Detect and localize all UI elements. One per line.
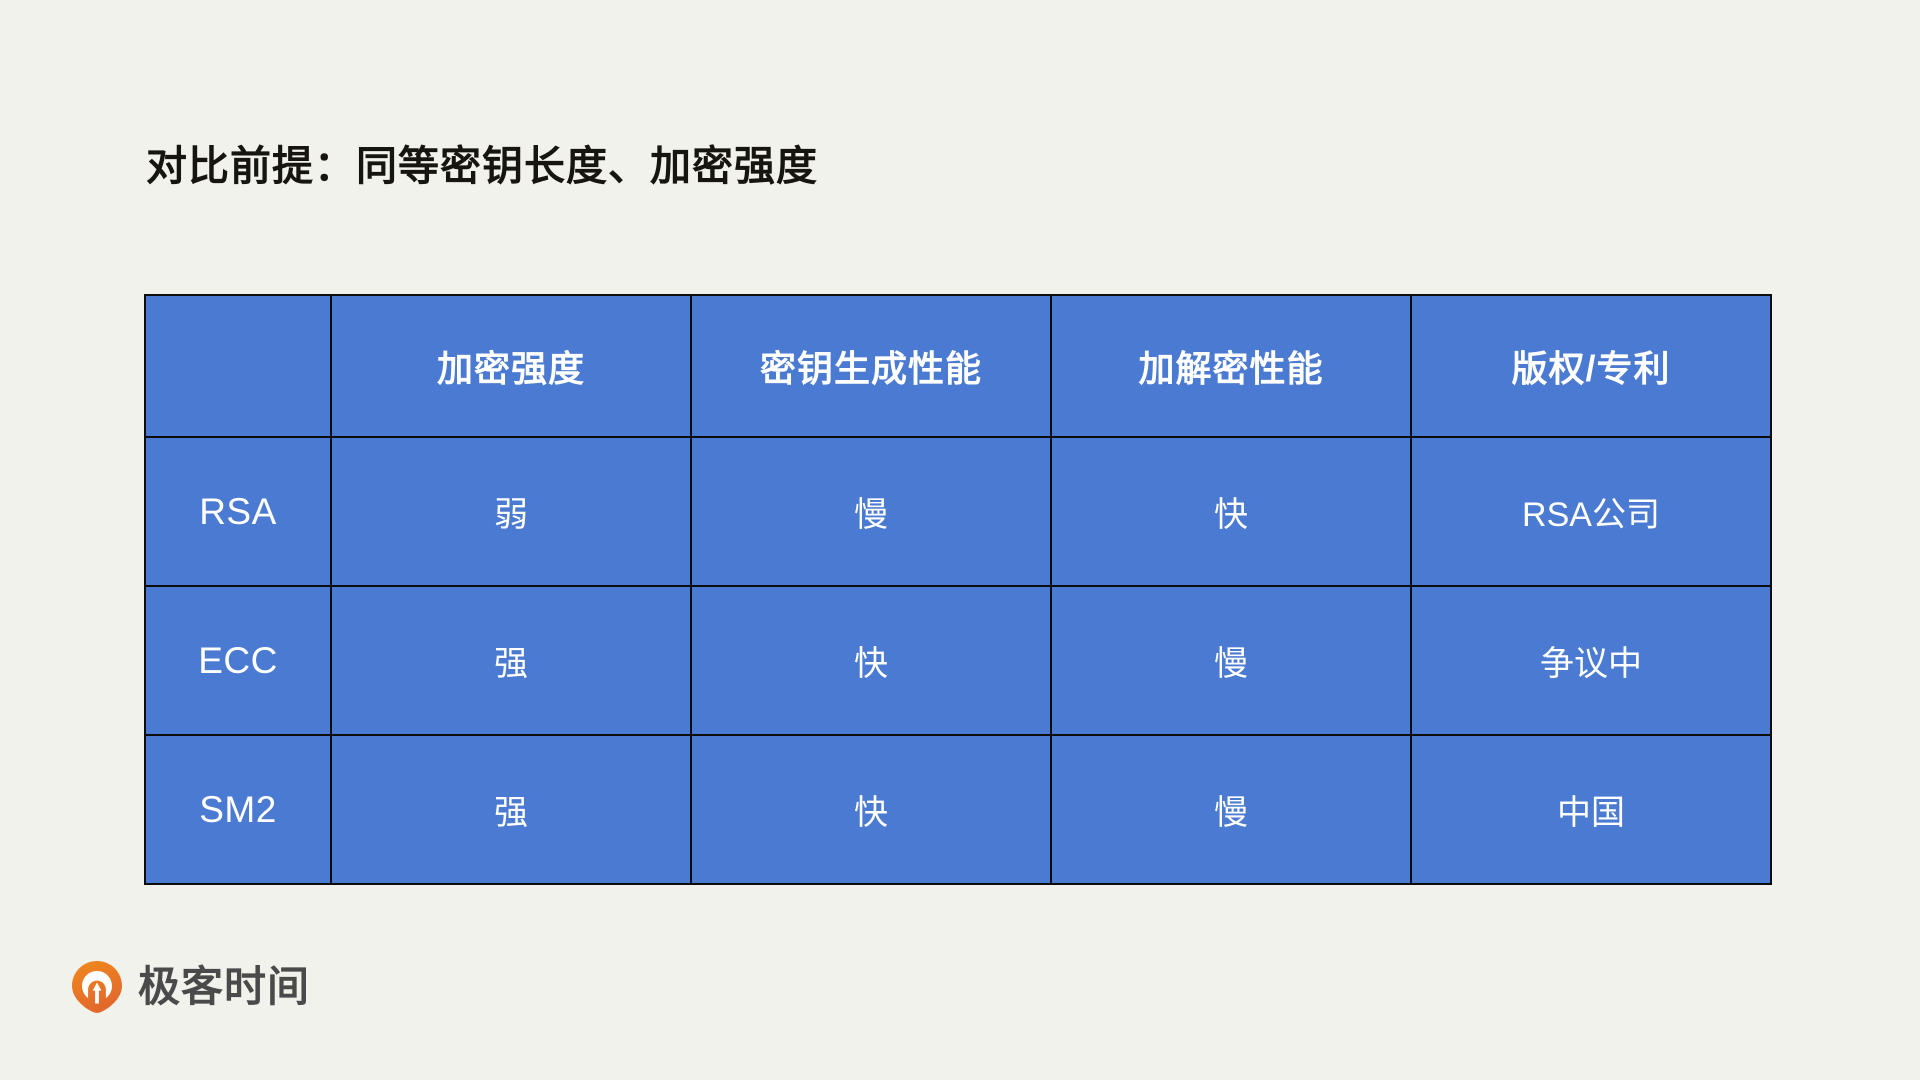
- column-header-encryption-strength: 加密强度: [331, 295, 691, 437]
- table-corner-cell: [145, 295, 331, 437]
- geektime-logo-icon: [70, 960, 124, 1014]
- cell-sm2-key-generation-performance: 快: [691, 735, 1051, 884]
- comparison-table: 加密强度 密钥生成性能 加解密性能 版权/专利 RSA 弱 慢 快 RSA公司 …: [144, 294, 1772, 885]
- column-header-key-generation-performance: 密钥生成性能: [691, 295, 1051, 437]
- brand-logo-text: 极客时间: [138, 966, 310, 1008]
- cell-rsa-encrypt-decrypt-performance: 快: [1051, 437, 1411, 586]
- column-header-copyright-patent: 版权/专利: [1411, 295, 1771, 437]
- cell-rsa-key-generation-performance: 慢: [691, 437, 1051, 586]
- row-label-sm2: SM2: [145, 735, 331, 884]
- table-row: SM2 强 快 慢 中国: [145, 735, 1771, 884]
- cell-ecc-encryption-strength: 强: [331, 586, 691, 735]
- cell-rsa-encryption-strength: 弱: [331, 437, 691, 586]
- row-label-ecc: ECC: [145, 586, 331, 735]
- cell-ecc-encrypt-decrypt-performance: 慢: [1051, 586, 1411, 735]
- table-row: RSA 弱 慢 快 RSA公司: [145, 437, 1771, 586]
- cell-ecc-copyright-patent: 争议中: [1411, 586, 1771, 735]
- page-title: 对比前提：同等密钥长度、加密强度: [146, 132, 818, 192]
- cell-sm2-encryption-strength: 强: [331, 735, 691, 884]
- row-label-rsa: RSA: [145, 437, 331, 586]
- slide-canvas: 对比前提：同等密钥长度、加密强度 加密强度 密钥生成性能 加解密性能 版权/专利…: [0, 0, 1920, 1080]
- table-row: ECC 强 快 慢 争议中: [145, 586, 1771, 735]
- cell-sm2-encrypt-decrypt-performance: 慢: [1051, 735, 1411, 884]
- column-header-encrypt-decrypt-performance: 加解密性能: [1051, 295, 1411, 437]
- cell-sm2-copyright-patent: 中国: [1411, 735, 1771, 884]
- table-header-row: 加密强度 密钥生成性能 加解密性能 版权/专利: [145, 295, 1771, 437]
- brand-logo: 极客时间: [70, 960, 310, 1014]
- cell-rsa-copyright-patent: RSA公司: [1411, 437, 1771, 586]
- cell-ecc-key-generation-performance: 快: [691, 586, 1051, 735]
